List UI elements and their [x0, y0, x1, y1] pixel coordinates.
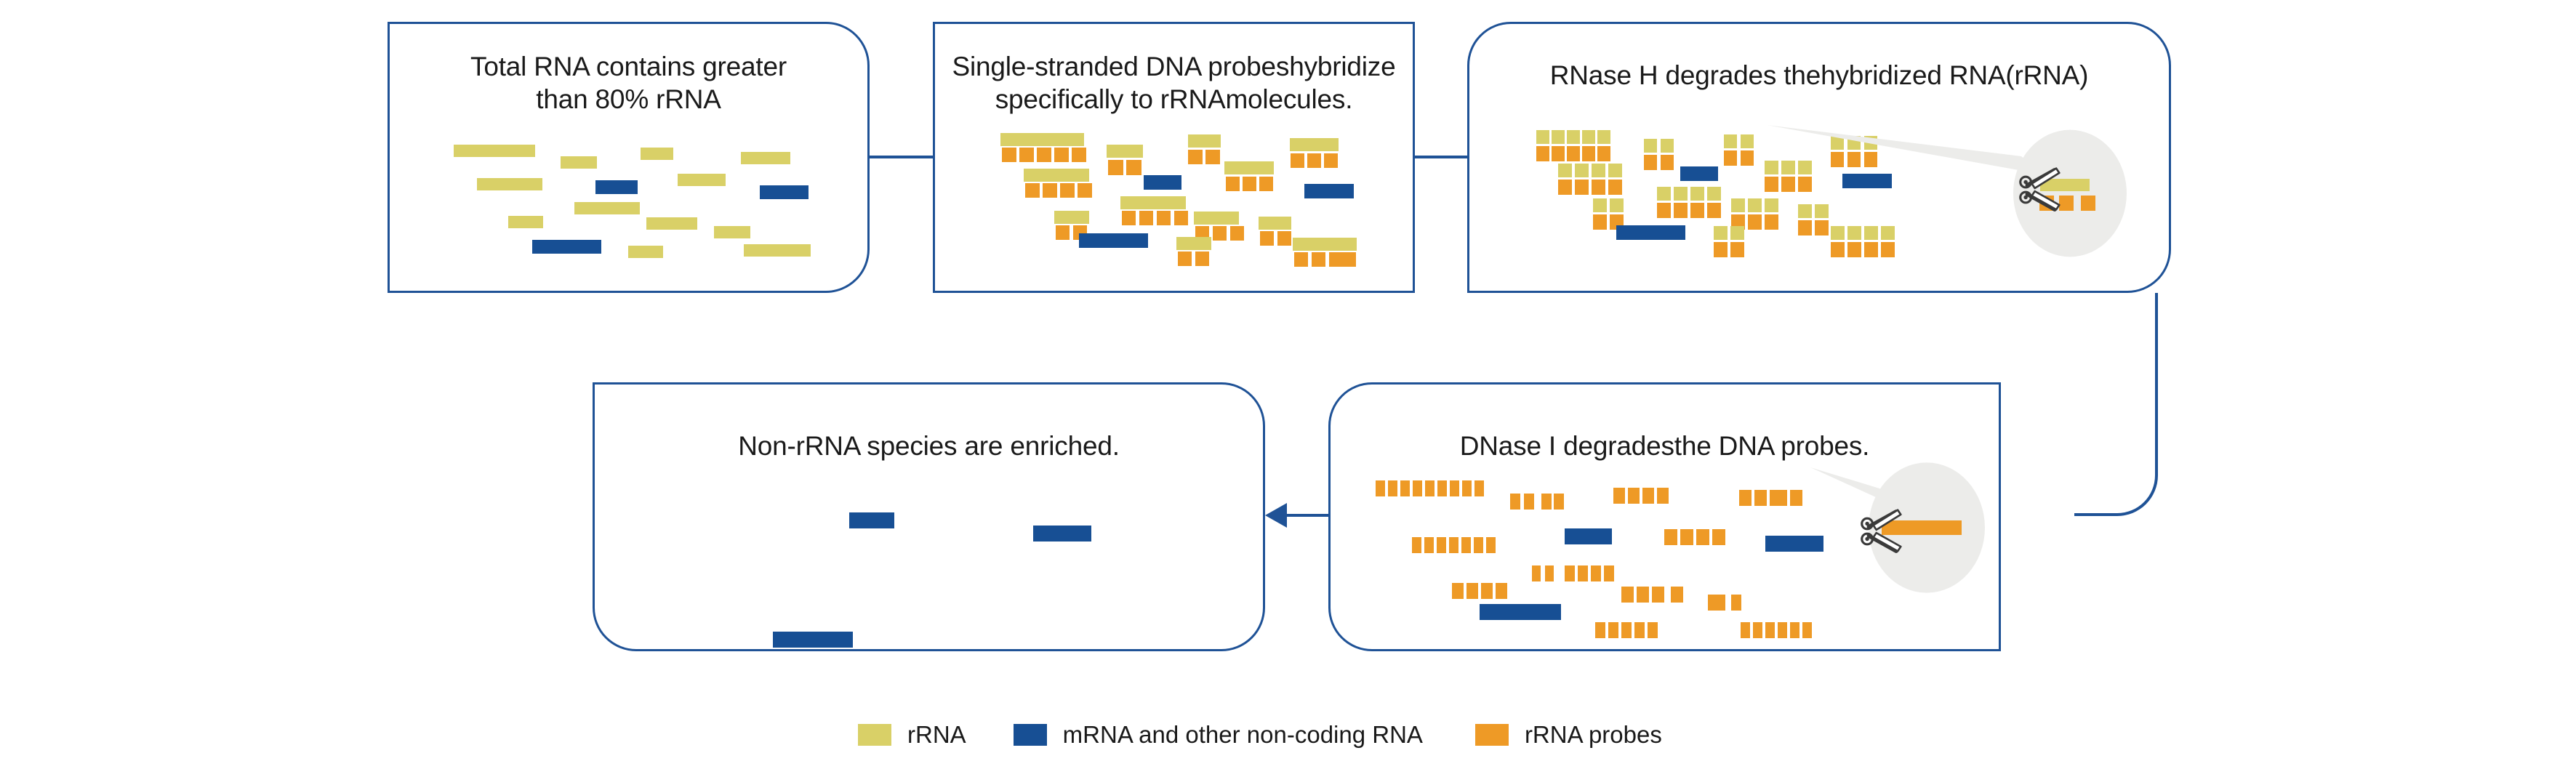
- rrna-probe-fragment: [1545, 565, 1554, 581]
- rrna-fragment: [1724, 134, 1737, 148]
- rrna-probe-fragment: [1621, 622, 1632, 638]
- rrna-fragment: [1582, 130, 1595, 144]
- rrna-fragment: [1000, 133, 1084, 146]
- legend-item-rrna: rRNA: [858, 721, 966, 749]
- rrna-fragment: [1107, 145, 1143, 158]
- rrna-probe-fragment: [1019, 148, 1034, 162]
- rrna-probe-fragment: [1558, 180, 1572, 195]
- panel-title: Non-rRNA species are enriched.: [595, 430, 1263, 462]
- rrna-probe-fragment: [1680, 529, 1693, 545]
- rrna-fragment: [628, 246, 663, 258]
- rrna-fragment: [1293, 238, 1357, 251]
- rrna-probe-fragment: [1437, 480, 1447, 496]
- rrna-fragment: [1661, 139, 1674, 153]
- legend-label: mRNA and other non-coding RNA: [1063, 721, 1423, 749]
- rrna-fragment: [1674, 187, 1688, 201]
- rrna-fragment: [1552, 130, 1565, 144]
- rrna-probe-fragment: [1425, 480, 1435, 496]
- rrna-fragment: [477, 178, 542, 190]
- rrna-fragment: [1608, 164, 1622, 177]
- rrna-fragment: [1259, 217, 1291, 230]
- rrna-probe-fragment: [1730, 242, 1744, 257]
- rrna-probe-fragment: [1637, 587, 1649, 603]
- rrna-probe-fragment: [1575, 180, 1589, 195]
- rrna-probe-fragment: [1060, 183, 1075, 198]
- legend-swatch-rrna: [858, 724, 891, 746]
- rrna-fragment: [1714, 226, 1728, 240]
- rrna-probe-fragment: [1400, 480, 1410, 496]
- rrna-probe-fragment: [1778, 622, 1787, 638]
- callout-probe-bar: [1882, 520, 1962, 535]
- rrna-probe-fragment: [1329, 252, 1343, 267]
- diagram-canvas: Total RNA contains greater than 80% rRNA…: [0, 0, 2576, 777]
- non-rrna-enriched-panel: Non-rRNA species are enriched.: [593, 382, 1265, 651]
- rrna-fragment: [1024, 169, 1089, 182]
- rrna-fragment: [1657, 187, 1671, 201]
- rrna-probe-fragment: [1671, 587, 1683, 603]
- rrna-fragment: [1194, 212, 1239, 225]
- callout-tail: [1767, 125, 2043, 174]
- connector-panel2-to-panel3: [1415, 156, 1467, 158]
- mrna-fragment: [849, 512, 894, 528]
- rrna-probe-fragment: [1595, 622, 1605, 638]
- rrna-probe-fragment: [1122, 211, 1136, 225]
- rrna-fragment: [1731, 198, 1745, 212]
- rrna-fragment: [1536, 130, 1549, 144]
- rrna-probe-fragment: [1674, 203, 1688, 218]
- rrna-fragment: [1054, 211, 1089, 224]
- rrna-probe-fragment: [1277, 231, 1291, 246]
- rrna-probe-fragment: [1790, 622, 1799, 638]
- rrna-probe-fragment: [1174, 211, 1188, 225]
- rrna-probe-fragment: [1486, 537, 1496, 553]
- rrna-probe-fragment: [1195, 226, 1209, 241]
- rrna-probe-fragment: [1376, 480, 1385, 496]
- rrna-fragment: [714, 226, 750, 238]
- rrna-probe-fragment: [1291, 153, 1304, 168]
- rrna-probe-fragment: [1593, 214, 1607, 230]
- rrna-probe-fragment: [1412, 537, 1421, 553]
- rrna-probe-fragment: [1195, 251, 1209, 266]
- rrna-probe-fragment: [1437, 537, 1446, 553]
- rrna-fragment: [1188, 134, 1221, 148]
- rrna-fragment: [574, 202, 640, 214]
- rrna-probe-fragment: [1260, 231, 1274, 246]
- rrna-probe-fragment: [1567, 146, 1580, 161]
- legend-item-probe: rRNA probes: [1475, 721, 1662, 749]
- rrna-probe-fragment: [1205, 150, 1220, 164]
- rnase-h-zoom-callout: [1760, 118, 2134, 257]
- rrna-probe-fragment: [1532, 565, 1541, 581]
- rrna-probe-fragment: [1552, 146, 1565, 161]
- rrna-probe-fragment: [1741, 150, 1754, 166]
- rrna-fragment: [641, 148, 673, 160]
- rrna-probe-fragment: [1608, 180, 1622, 195]
- rrna-probe-fragment: [1644, 155, 1657, 170]
- rrna-fragment: [1558, 164, 1572, 177]
- panel-title: RNase H degrades thehybridized RNA(rRNA): [1469, 59, 2169, 92]
- rrna-fragment: [508, 216, 543, 228]
- rrna-probe-fragment: [1707, 203, 1721, 218]
- legend-item-mrna: mRNA and other non-coding RNA: [1014, 721, 1423, 749]
- rrna-probe-fragment: [1025, 183, 1040, 198]
- rrna-probe-fragment: [1388, 480, 1397, 496]
- rrna-probe-fragment: [1072, 148, 1086, 162]
- rrna-probe-fragment: [1628, 488, 1640, 504]
- rrna-fragment: [1120, 196, 1186, 209]
- probe-hybridization-panel: Single-stranded DNA probeshybridize spec…: [933, 22, 1415, 293]
- rrna-probe-fragment: [1462, 480, 1472, 496]
- rrna-probe-fragment: [1714, 242, 1728, 257]
- rrna-probe-fragment: [1634, 622, 1645, 638]
- rrna-probe-fragment: [1139, 211, 1153, 225]
- rrna-probe-fragment: [1621, 587, 1634, 603]
- rrna-fragment: [1610, 198, 1624, 212]
- mrna-fragment: [1033, 526, 1091, 542]
- rrna-fragment: [1593, 198, 1607, 212]
- connector-panel1-to-panel2: [870, 156, 933, 158]
- mrna-fragment: [1144, 175, 1181, 190]
- rrna-probe-fragment: [1126, 160, 1141, 175]
- mrna-fragment: [1480, 604, 1561, 620]
- rrna-fragment: [1290, 138, 1339, 151]
- connector-panel4-to-panel5-shaft: [1287, 514, 1328, 517]
- rrna-probe-fragment: [1608, 622, 1618, 638]
- rrna-probe-fragment: [1496, 583, 1507, 599]
- rrna-probe-fragment: [1613, 488, 1625, 504]
- rrna-probe-fragment: [1696, 529, 1709, 545]
- rrna-probe-fragment: [1078, 183, 1092, 198]
- rrna-probe-fragment: [1582, 146, 1595, 161]
- dnase-zoom-callout: [1803, 460, 1992, 593]
- rrna-probe-fragment: [1157, 211, 1171, 225]
- rrna-probe-fragment: [1307, 153, 1321, 168]
- rrna-probe-fragment: [1230, 226, 1244, 241]
- rrna-probe-fragment: [1597, 146, 1610, 161]
- rrna-probe-fragment: [1664, 529, 1677, 545]
- connector-panel4-to-panel5-head: [1265, 503, 1287, 528]
- rrna-probe-fragment: [1474, 480, 1484, 496]
- rrna-probe-fragment: [1554, 494, 1564, 510]
- rrna-probe-fragment: [1312, 252, 1325, 267]
- rrna-fragment: [744, 244, 811, 257]
- mrna-fragment: [773, 632, 853, 648]
- rrna-probe-fragment: [1073, 225, 1087, 240]
- rrna-probe-fragment: [1324, 153, 1338, 168]
- rrna-probe-fragment: [1591, 565, 1601, 581]
- rrna-probe-fragment: [1466, 583, 1478, 599]
- rrna-probe-fragment: [1657, 488, 1669, 504]
- rrna-probe-fragment: [1541, 494, 1552, 510]
- rrna-probe-fragment: [1524, 494, 1534, 510]
- rrna-fragment: [454, 145, 535, 157]
- rrna-probe-fragment: [1452, 583, 1464, 599]
- rrna-fragment: [1707, 187, 1721, 201]
- rrna-fragment: [1176, 237, 1211, 250]
- rrna-probe-fragment: [1424, 537, 1434, 553]
- rrna-probe-fragment: [1002, 148, 1016, 162]
- rrna-probe-fragment: [1474, 537, 1483, 553]
- rrna-probe-fragment: [1565, 565, 1575, 581]
- rrna-probe-fragment: [1342, 252, 1356, 267]
- connector-panel3-to-panel4: [2112, 293, 2158, 516]
- rrna-probe-fragment: [1481, 583, 1493, 599]
- rrna-probe-fragment: [1449, 537, 1458, 553]
- rrna-probe-fragment: [1648, 622, 1658, 638]
- rrna-probe-fragment: [1731, 595, 1741, 611]
- panel-title: Single-stranded DNA probeshybridize spec…: [935, 50, 1413, 116]
- rrna-probe-fragment: [1578, 565, 1588, 581]
- rrna-probe-fragment: [1108, 160, 1123, 175]
- rrna-fragment: [1575, 164, 1589, 177]
- rrna-probe-fragment: [1610, 214, 1624, 230]
- rrna-probe-fragment: [1450, 480, 1459, 496]
- rrna-fragment: [1597, 130, 1610, 144]
- mrna-fragment: [532, 240, 601, 254]
- total-rna-panel: Total RNA contains greater than 80% rRNA: [388, 22, 870, 293]
- mrna-fragment: [1079, 233, 1148, 248]
- rrna-probe-fragment: [1043, 183, 1057, 198]
- mrna-fragment: [1304, 184, 1354, 198]
- rrna-fragment: [561, 156, 597, 169]
- rrna-probe-fragment: [1037, 148, 1051, 162]
- rrna-probe-fragment: [1770, 490, 1787, 506]
- rrna-fragment: [1592, 164, 1605, 177]
- rrna-probe-fragment: [1790, 490, 1802, 506]
- mrna-fragment: [1680, 166, 1718, 181]
- connector-panel3-to-panel4-tail: [2074, 513, 2115, 516]
- rrna-fragment: [1567, 130, 1580, 144]
- rrna-probe-fragment: [1226, 177, 1240, 191]
- rrna-probe-fragment: [1754, 490, 1767, 506]
- rrna-probe-fragment: [1294, 252, 1308, 267]
- molecule-layer: [595, 385, 1263, 649]
- rrna-probe-fragment: [1739, 490, 1752, 506]
- rrna-fragment: [1224, 161, 1274, 174]
- rrna-fragment: [1690, 187, 1704, 201]
- rrna-probe-fragment: [1741, 622, 1750, 638]
- rrna-probe-fragment: [1802, 622, 1812, 638]
- mrna-fragment: [1565, 528, 1612, 544]
- legend-swatch-mrna: [1014, 724, 1047, 746]
- rrna-probe-fragment: [1461, 537, 1471, 553]
- rrna-fragment: [678, 174, 726, 186]
- rrna-probe-fragment: [1712, 529, 1725, 545]
- rrna-probe-fragment: [1178, 251, 1192, 266]
- rrna-probe-fragment: [1536, 146, 1549, 161]
- rrna-fragment: [741, 152, 790, 164]
- diagram-legend: rRNAmRNA and other non-coding RNArRNA pr…: [858, 721, 1662, 749]
- panel-title: DNase I degradesthe DNA probes.: [1331, 430, 1999, 462]
- rrna-probe-fragment: [1731, 214, 1745, 230]
- rrna-probe-fragment: [1243, 177, 1256, 191]
- rrna-probe-fragment: [1259, 177, 1273, 191]
- rrna-fragment: [646, 217, 697, 230]
- mrna-fragment: [760, 185, 808, 199]
- rrna-fragment: [1730, 226, 1744, 240]
- rrna-probe-fragment: [1510, 494, 1520, 510]
- callout-probe-square: [2081, 196, 2095, 211]
- rrna-probe-fragment: [1213, 226, 1227, 241]
- legend-label: rRNA probes: [1525, 721, 1662, 749]
- rrna-probe-fragment: [1413, 480, 1422, 496]
- rrna-fragment: [1644, 139, 1657, 153]
- rrna-probe-fragment: [1690, 203, 1704, 218]
- rrna-probe-fragment: [1765, 622, 1775, 638]
- rrna-probe-fragment: [1708, 595, 1725, 611]
- mrna-fragment: [1616, 225, 1685, 240]
- rrna-probe-fragment: [1652, 587, 1664, 603]
- rrna-probe-fragment: [1592, 180, 1605, 195]
- legend-label: rRNA: [907, 721, 966, 749]
- rrna-fragment: [1741, 134, 1754, 148]
- rrna-probe-fragment: [1056, 225, 1070, 240]
- rrna-probe-fragment: [1642, 488, 1654, 504]
- rrna-probe-fragment: [1657, 203, 1671, 218]
- rrna-probe-fragment: [1054, 148, 1069, 162]
- callout-probe-square: [2059, 196, 2074, 211]
- rrna-probe-fragment: [1724, 150, 1737, 166]
- rrna-probe-fragment: [1604, 565, 1614, 581]
- mrna-fragment: [595, 180, 638, 194]
- legend-swatch-probe: [1475, 724, 1509, 746]
- rrna-probe-fragment: [1188, 150, 1203, 164]
- rrna-probe-fragment: [1661, 155, 1674, 170]
- rrna-probe-fragment: [1753, 622, 1762, 638]
- panel-title: Total RNA contains greater than 80% rRNA: [390, 50, 867, 116]
